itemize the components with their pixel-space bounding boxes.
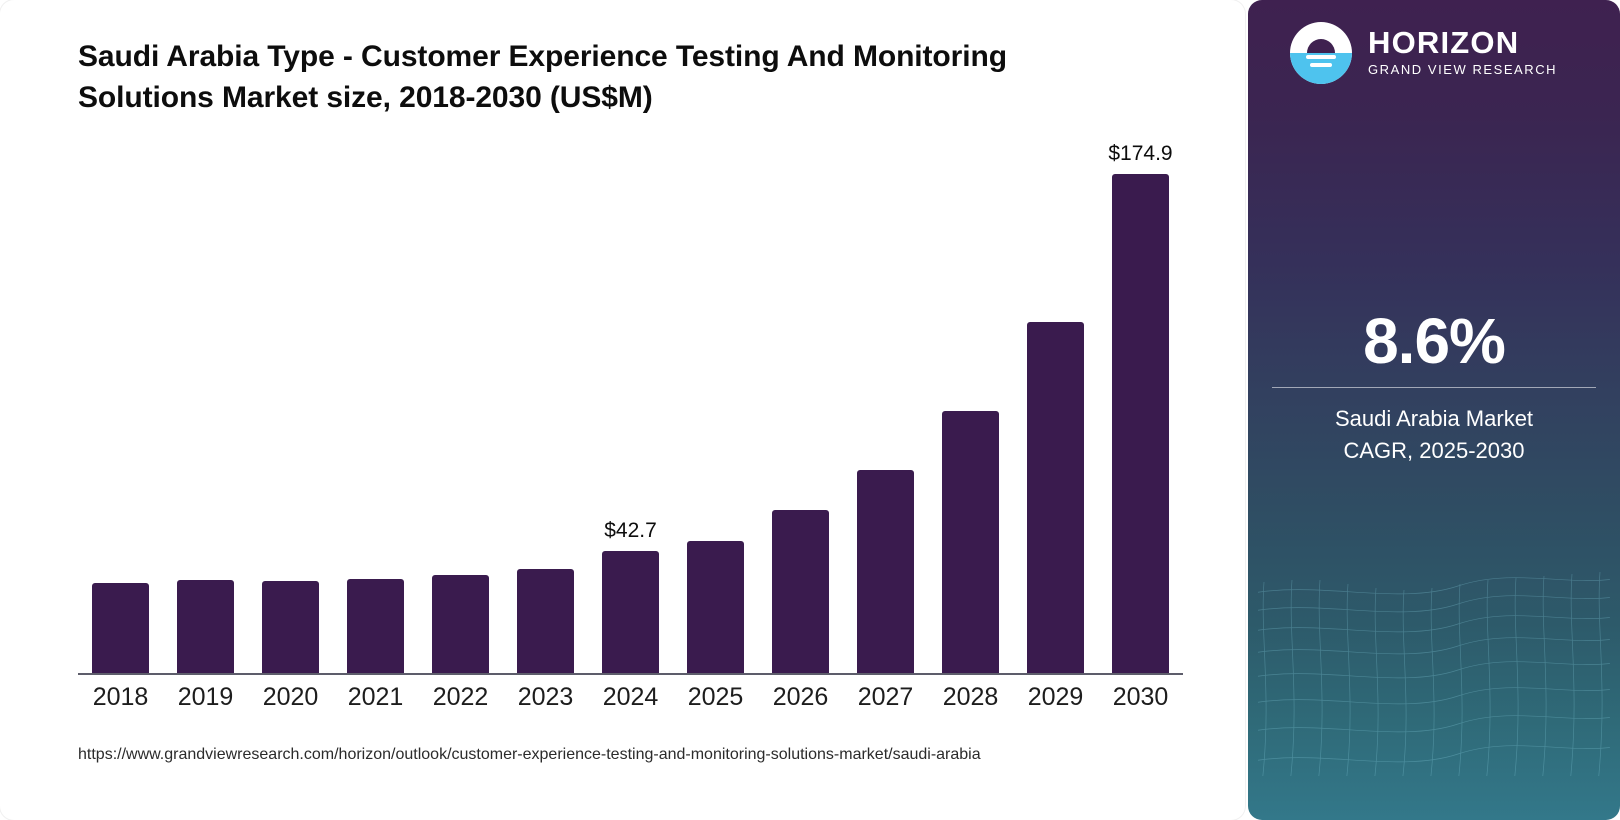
brand-wordmark: HORIZON GRAND VIEW RESEARCH xyxy=(1368,27,1557,78)
bar-2018[interactable] xyxy=(92,583,149,673)
side-panel-inner: HORIZON GRAND VIEW RESEARCH 8.6% Saudi A… xyxy=(1258,4,1610,776)
bar-slot xyxy=(503,140,588,673)
bar-slot xyxy=(843,140,928,673)
plot-area: $42.7$174.9 xyxy=(78,140,1183,675)
x-tick-2020: 2020 xyxy=(248,683,333,712)
x-tick-2026: 2026 xyxy=(758,683,843,712)
x-tick-2023: 2023 xyxy=(503,683,588,712)
x-axis-line xyxy=(78,673,1183,675)
x-tick-2024: 2024 xyxy=(588,683,673,712)
chart-card: Saudi Arabia Type - Customer Experience … xyxy=(0,0,1245,820)
bar-slot: $174.9 xyxy=(1098,140,1183,673)
bar-2027[interactable] xyxy=(857,470,914,673)
bar-2025[interactable] xyxy=(687,541,744,673)
cagr-side-panel: HORIZON GRAND VIEW RESEARCH 8.6% Saudi A… xyxy=(1248,0,1620,820)
x-tick-2022: 2022 xyxy=(418,683,503,712)
bar-2022[interactable] xyxy=(432,575,489,673)
bar-2023[interactable] xyxy=(517,569,574,673)
bar-slot: $42.7 xyxy=(588,140,673,673)
bar-slot xyxy=(78,140,163,673)
bar-2021[interactable] xyxy=(347,579,404,673)
x-tick-2019: 2019 xyxy=(163,683,248,712)
logo-bar-lower xyxy=(1310,63,1332,67)
bar-slot xyxy=(673,140,758,673)
decorative-wire-mesh xyxy=(1258,536,1610,776)
chart-screenshot: Saudi Arabia Type - Customer Experience … xyxy=(0,0,1620,820)
bar-slot xyxy=(758,140,843,673)
cagr-value: 8.6% xyxy=(1258,304,1610,378)
bar-2029[interactable] xyxy=(1027,322,1084,673)
x-tick-2029: 2029 xyxy=(1013,683,1098,712)
cagr-divider xyxy=(1272,387,1596,388)
cagr-caption-line-1: Saudi Arabia Market xyxy=(1258,403,1610,435)
logo-dome-shape xyxy=(1307,39,1335,53)
bar-2030[interactable] xyxy=(1112,174,1169,673)
x-tick-2025: 2025 xyxy=(673,683,758,712)
x-tick-2018: 2018 xyxy=(78,683,163,712)
page-title: Saudi Arabia Type - Customer Experience … xyxy=(78,36,1078,119)
bar-slot xyxy=(928,140,1013,673)
bar-2024[interactable] xyxy=(602,551,659,673)
brand-tagline: GRAND VIEW RESEARCH xyxy=(1368,62,1557,79)
logo-bar-upper xyxy=(1306,55,1336,59)
bar-series: $42.7$174.9 xyxy=(78,140,1183,673)
bar-2020[interactable] xyxy=(262,581,319,673)
bar-value-label: $42.7 xyxy=(604,519,657,543)
bar-slot xyxy=(248,140,333,673)
x-axis-tick-labels: 2018201920202021202220232024202520262027… xyxy=(78,683,1183,712)
bar-value-label: $174.9 xyxy=(1108,142,1172,166)
bar-slot xyxy=(418,140,503,673)
x-tick-2028: 2028 xyxy=(928,683,1013,712)
cagr-caption: Saudi Arabia Market CAGR, 2025-2030 xyxy=(1258,403,1610,467)
source-url[interactable]: https://www.grandviewresearch.com/horizo… xyxy=(78,746,981,764)
bar-slot xyxy=(163,140,248,673)
horizon-sun-logo-icon xyxy=(1290,22,1352,84)
cagr-caption-line-2: CAGR, 2025-2030 xyxy=(1258,435,1610,467)
bar-slot xyxy=(333,140,418,673)
bar-2019[interactable] xyxy=(177,580,234,673)
brand-logo: HORIZON GRAND VIEW RESEARCH xyxy=(1290,22,1557,84)
x-tick-2030: 2030 xyxy=(1098,683,1183,712)
brand-name: HORIZON xyxy=(1368,27,1557,60)
bar-2026[interactable] xyxy=(772,510,829,673)
x-tick-2021: 2021 xyxy=(333,683,418,712)
bar-slot xyxy=(1013,140,1098,673)
bar-2028[interactable] xyxy=(942,411,999,673)
x-tick-2027: 2027 xyxy=(843,683,928,712)
